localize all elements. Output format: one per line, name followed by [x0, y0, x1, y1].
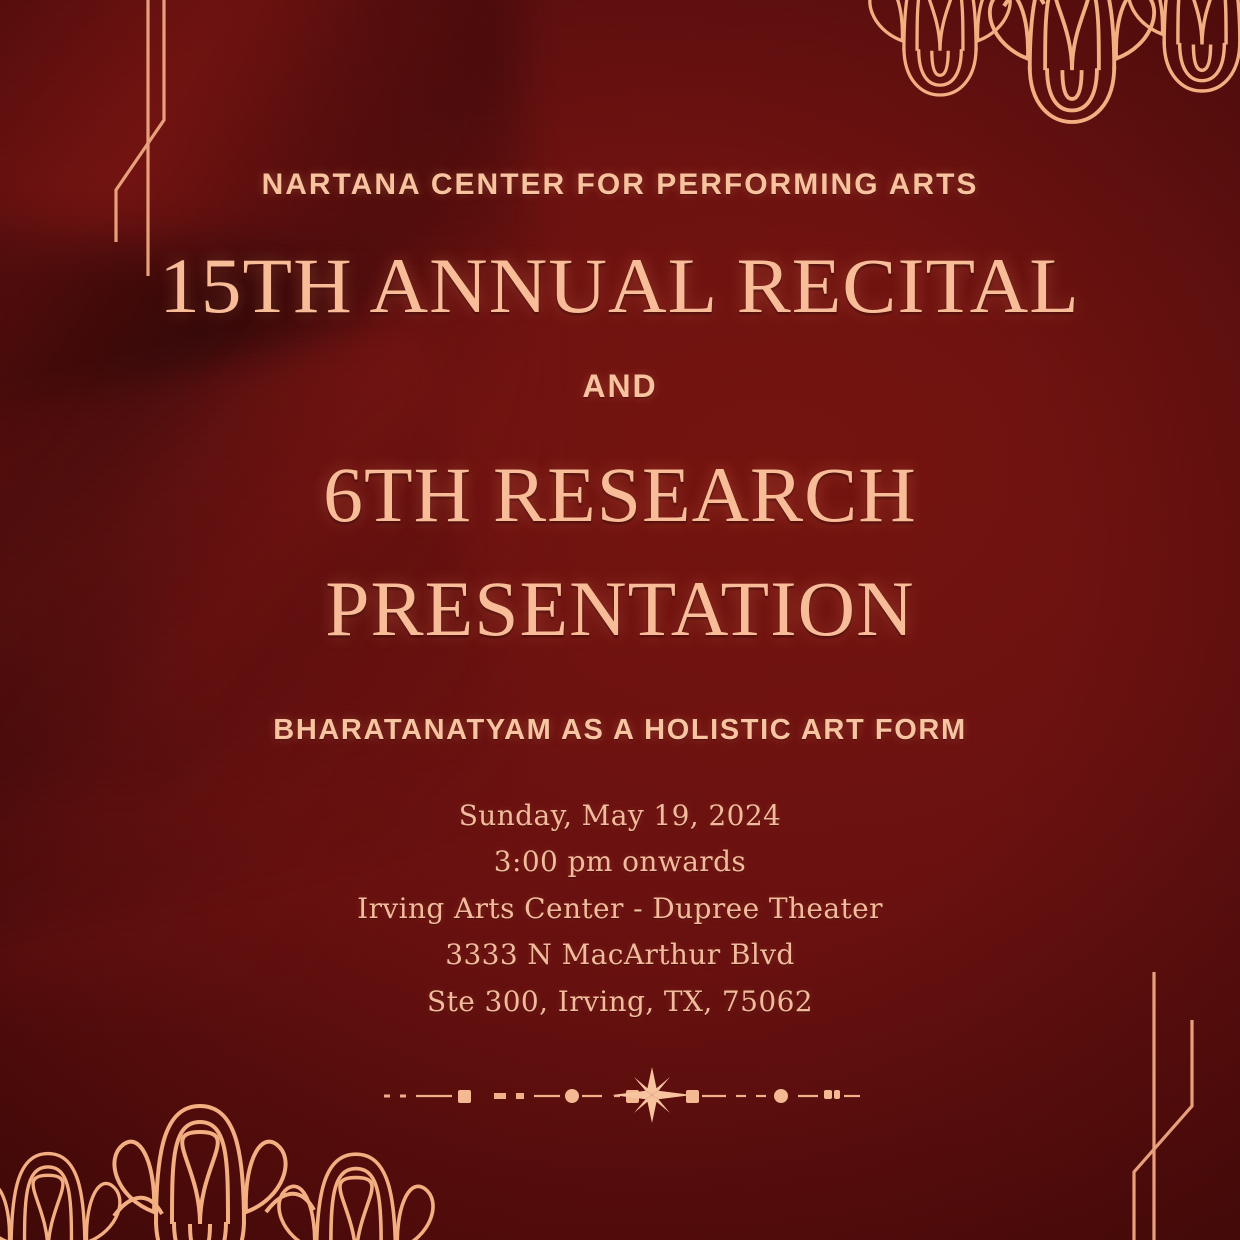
- poster-content: NARTANA CENTER FOR PERFORMING ARTS 15TH …: [0, 0, 1240, 1240]
- event-street: 3333 N MacArthur Blvd: [357, 932, 883, 978]
- headline-secondary-line-1: 6TH RESEARCH: [323, 453, 917, 537]
- organization-name: NARTANA CENTER FOR PERFORMING ARTS: [262, 168, 979, 202]
- headline-secondary: 6TH RESEARCH PRESENTATION: [323, 453, 917, 651]
- event-date: Sunday, May 19, 2024: [357, 793, 883, 839]
- event-city-state-zip: Ste 300, Irving, TX, 75062: [357, 979, 883, 1025]
- starburst-divider-icon: [374, 1065, 866, 1125]
- event-venue: Irving Arts Center - Dupree Theater: [357, 886, 883, 932]
- conjunction-and: AND: [582, 368, 657, 405]
- event-poster: NARTANA CENTER FOR PERFORMING ARTS 15TH …: [0, 0, 1240, 1240]
- event-time: 3:00 pm onwards: [357, 839, 883, 885]
- event-details: Sunday, May 19, 2024 3:00 pm onwards Irv…: [357, 793, 883, 1025]
- headline-primary: 15TH ANNUAL RECITAL: [160, 244, 1081, 328]
- poster-subtitle: BHARATANATYAM AS A HOLISTIC ART FORM: [273, 714, 966, 747]
- headline-secondary-line-2: PRESENTATION: [323, 567, 917, 651]
